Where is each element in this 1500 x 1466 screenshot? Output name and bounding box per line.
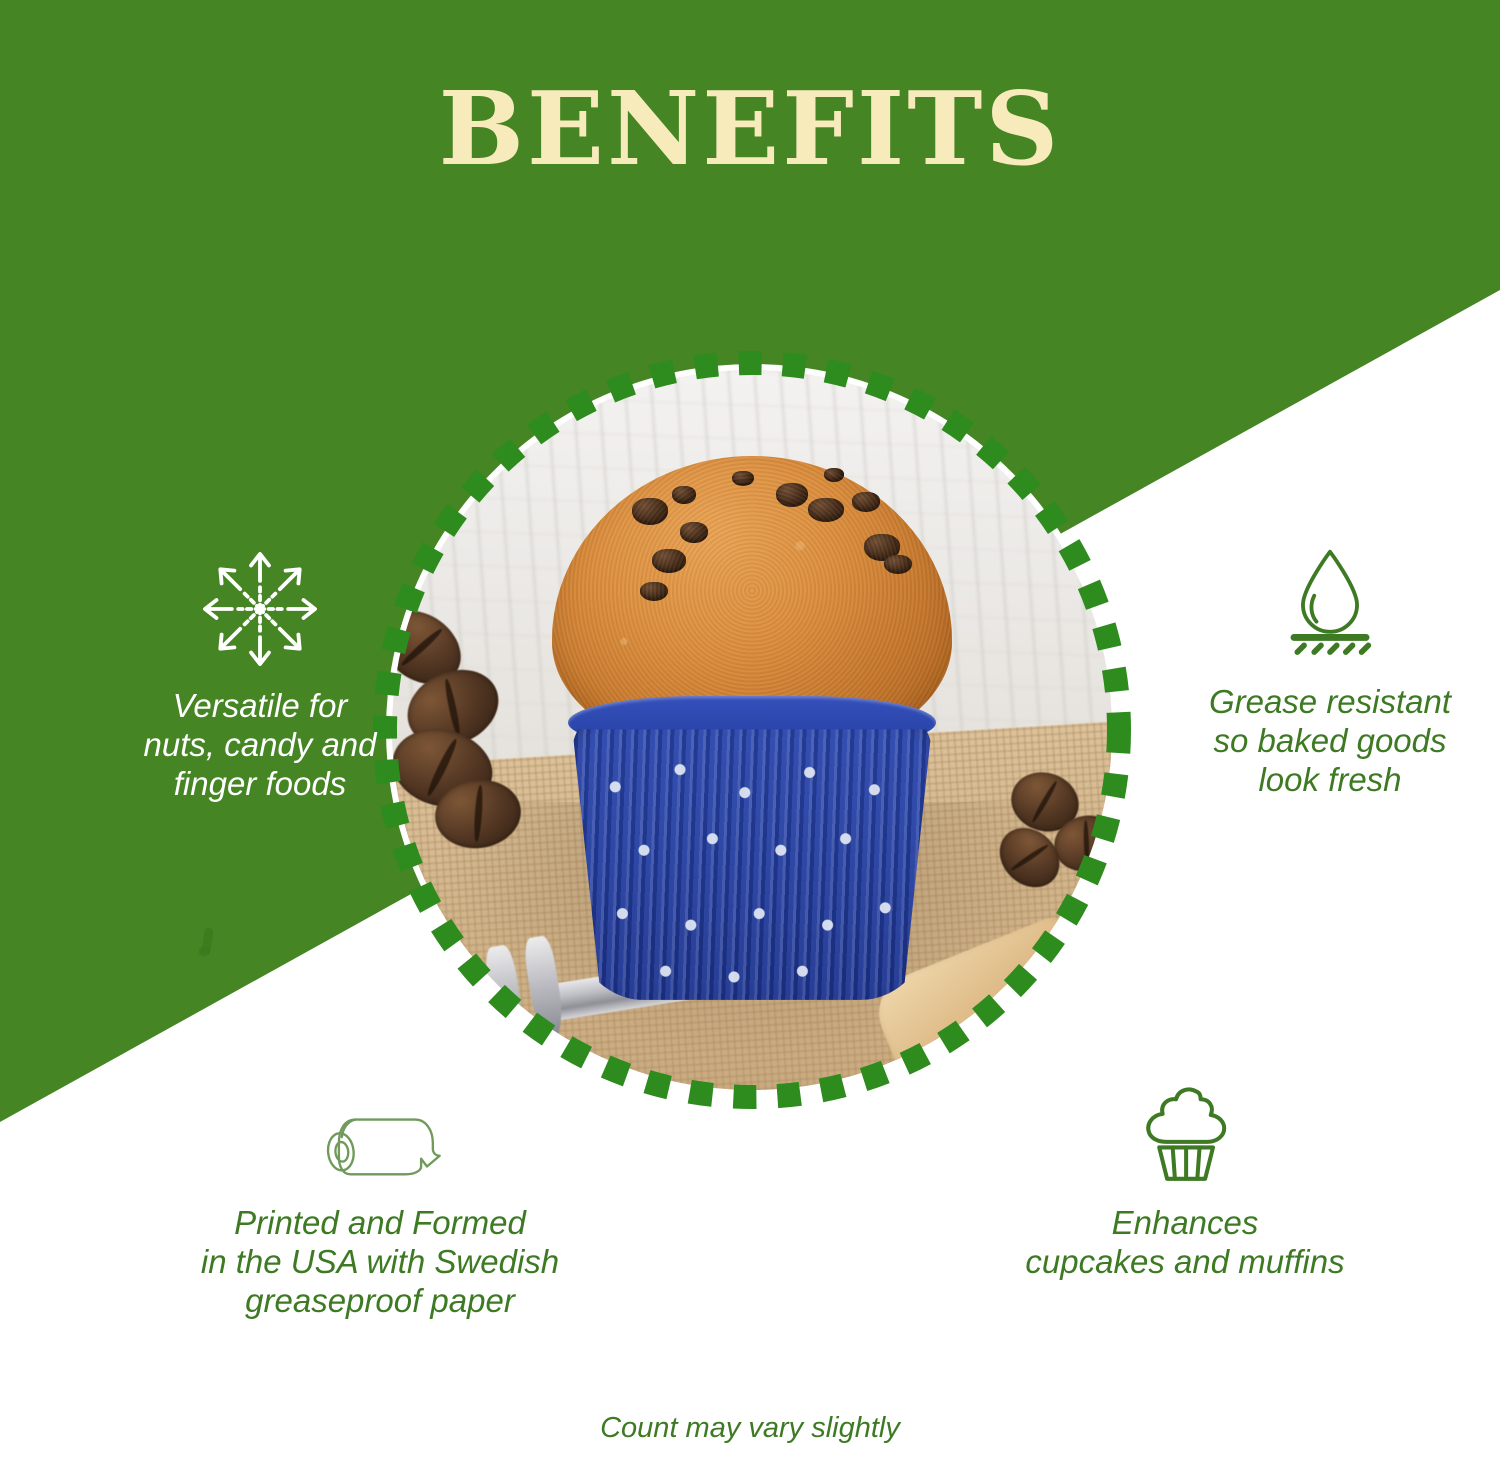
- muffin: [543, 456, 961, 989]
- blue-polka-dot-baking-cup: [572, 712, 931, 1000]
- chocolate-chip: [852, 492, 880, 511]
- chocolate-chip: [864, 534, 900, 561]
- benefit-versatile-caption: Versatile for nuts, candy and finger foo…: [60, 687, 460, 804]
- muffin-photo-scene: [392, 370, 1112, 1090]
- hero-photo: [367, 345, 1137, 1115]
- chocolate-chip: [732, 471, 754, 486]
- fork-tine: [444, 956, 489, 1063]
- paper-roll-icon: [311, 1098, 449, 1190]
- water-droplet-repel-icon: [1272, 545, 1388, 669]
- chocolate-chip: [808, 498, 844, 522]
- benefit-enhances-bakes: Enhances cupcakes and muffins: [975, 1078, 1395, 1282]
- chocolate-chip: [776, 483, 808, 507]
- chocolate-chip: [680, 522, 708, 543]
- benefit-made-in-usa: Printed and Formed in the USA with Swedi…: [150, 1098, 610, 1321]
- footnote: Count may vary slightly: [0, 1412, 1500, 1445]
- fork-tine: [483, 944, 528, 1051]
- chocolate-chip: [672, 486, 696, 504]
- chocolate-chip: [824, 468, 844, 482]
- expand-arrows-icon: [196, 545, 324, 673]
- chocolate-chip: [640, 582, 668, 601]
- hero-photo-clip: [392, 370, 1112, 1090]
- page-title: BENEFITS: [0, 78, 1500, 179]
- infographic-canvas: BENEFITS: [0, 0, 1500, 1466]
- benefit-enhances-bakes-caption: Enhances cupcakes and muffins: [975, 1204, 1395, 1282]
- benefit-made-in-usa-caption: Printed and Formed in the USA with Swedi…: [150, 1204, 610, 1321]
- chocolate-chip: [884, 555, 912, 574]
- chocolate-chip: [652, 549, 686, 573]
- benefit-grease-resistant-caption: Grease resistant so baked goods look fre…: [1130, 683, 1500, 800]
- benefit-grease-resistant: Grease resistant so baked goods look fre…: [1130, 545, 1500, 800]
- cupcake-icon: [1129, 1078, 1241, 1190]
- chocolate-chip: [632, 498, 668, 525]
- benefit-versatile: Versatile for nuts, candy and finger foo…: [60, 545, 460, 804]
